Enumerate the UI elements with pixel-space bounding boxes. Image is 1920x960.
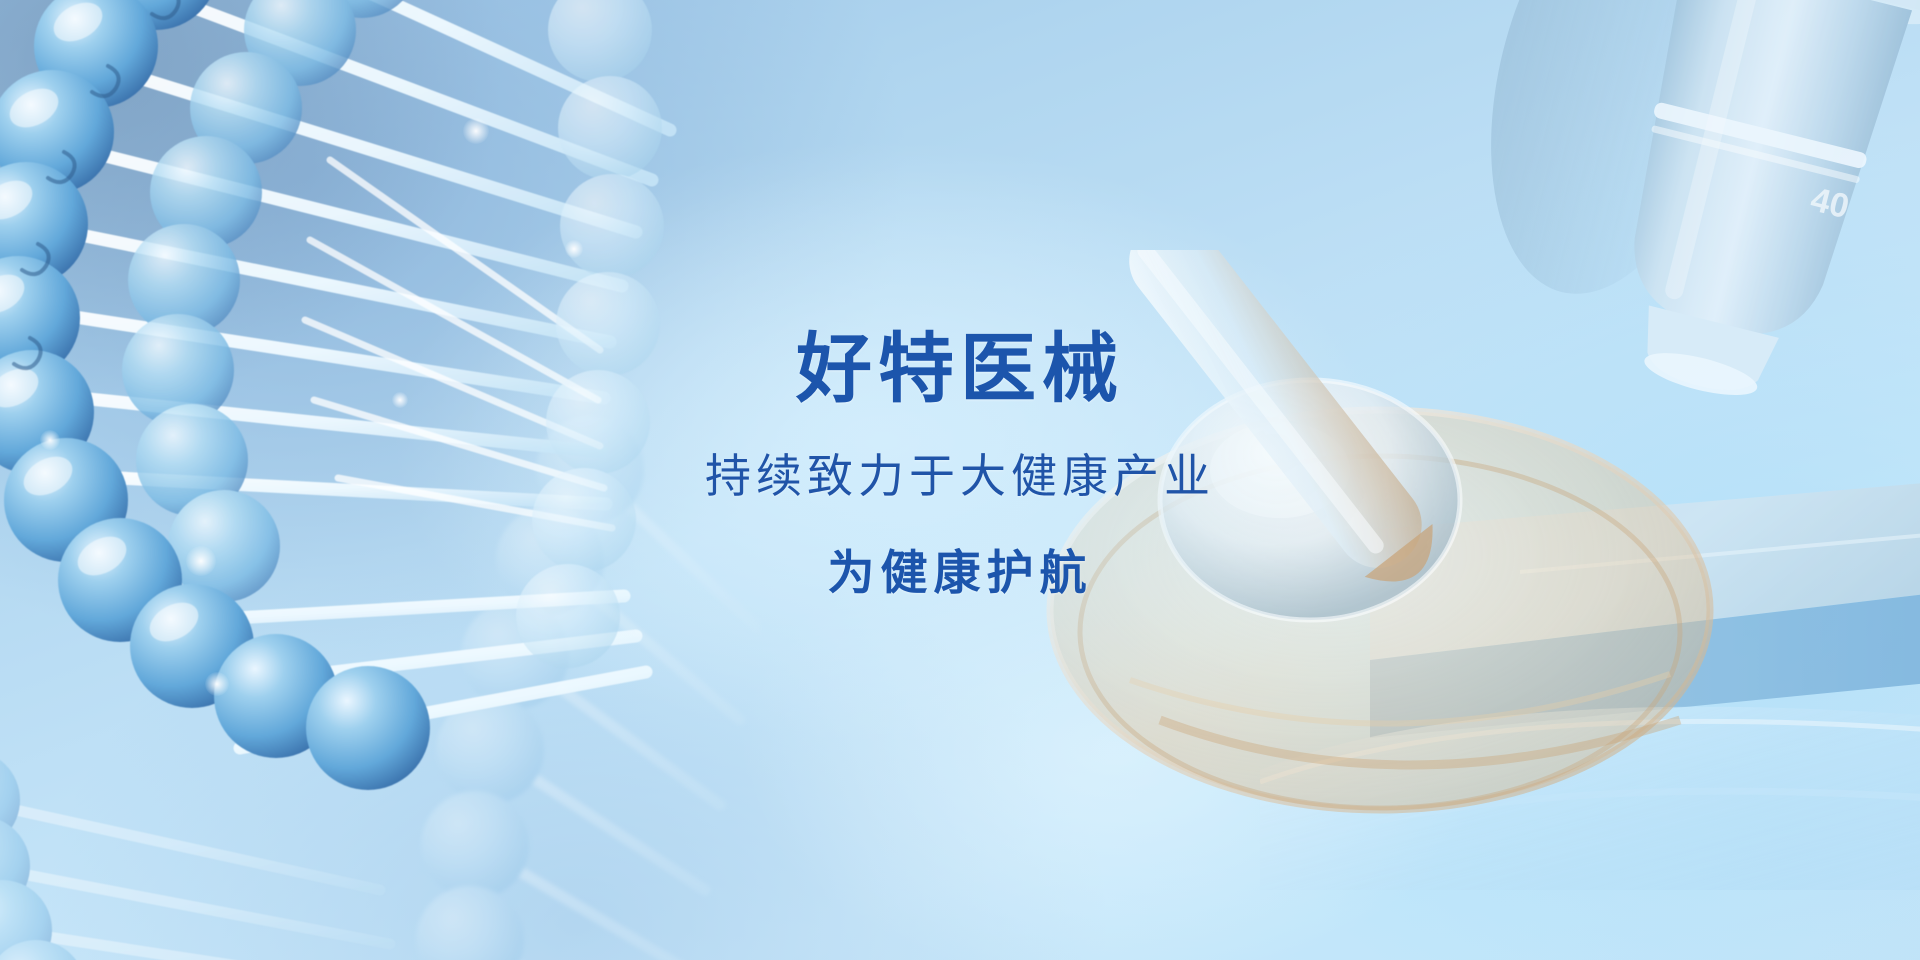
- petri-dish-with-pipette-icon: [980, 250, 1740, 890]
- dna-double-helix-icon: [0, 0, 730, 960]
- hero-banner: 40: [0, 0, 1920, 960]
